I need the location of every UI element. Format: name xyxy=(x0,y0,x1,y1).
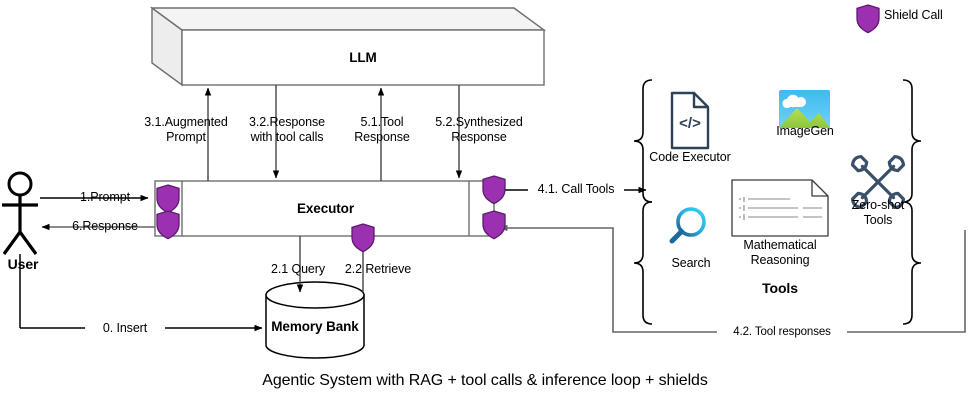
shield-memory-retrieve[interactable] xyxy=(352,224,374,252)
legend-shield-icon xyxy=(857,5,879,33)
edge-label-call-tools: 4.1. Call Tools xyxy=(528,182,624,197)
tool-label-imagegen: ImageGen xyxy=(765,124,845,139)
diagram-caption: Agentic System with RAG + tool calls & i… xyxy=(0,373,970,388)
edge-label-tool-response: 5.1.Tool Response xyxy=(338,115,426,145)
user-label: User xyxy=(0,257,46,272)
tool-label-mathematical-reasoning: Mathematical Reasoning xyxy=(725,238,835,268)
svg-text:</>: </> xyxy=(679,115,701,132)
executor-label: Executor xyxy=(182,201,469,216)
image-picture-icon[interactable] xyxy=(779,90,830,128)
formula-document-icon[interactable] xyxy=(732,180,828,236)
edge-label-insert: 0. Insert xyxy=(85,321,165,336)
memory-bank-label: Memory Bank xyxy=(266,319,364,334)
edge-label-retrieve: 2.2 Retrieve xyxy=(334,262,422,277)
edge-label-augmented-prompt: 3.1.Augmented Prompt xyxy=(136,115,236,145)
edge-label-response: 6.Response xyxy=(55,219,155,234)
code-document-icon[interactable]: </> xyxy=(672,93,708,148)
diagram-canvas: </> xyxy=(0,0,970,411)
edge-insert xyxy=(20,254,262,328)
tool-label-zero-shot-tools: Zero-shot Tools xyxy=(840,198,916,228)
edge-label-response-with-tool-calls: 3.2.Response with tool calls xyxy=(232,115,342,145)
edge-label-synthesized-response: 5.2.Synthesized Response xyxy=(424,115,534,145)
llm-label: LLM xyxy=(182,50,544,65)
edge-label-query: 2.1 Query xyxy=(258,262,338,277)
llm-node[interactable] xyxy=(152,8,544,85)
edge-label-prompt: 1.Prompt xyxy=(60,190,150,205)
tool-label-search: Search xyxy=(661,256,721,271)
edge-label-tool-responses: 4.2. Tool responses xyxy=(717,325,847,340)
legend-shield-label: Shield Call xyxy=(884,8,970,23)
tool-label-code-executor: Code Executor xyxy=(645,150,735,165)
magnifier-icon[interactable] xyxy=(672,209,704,241)
tools-group-label: Tools xyxy=(725,281,835,296)
user-actor[interactable] xyxy=(2,173,38,254)
